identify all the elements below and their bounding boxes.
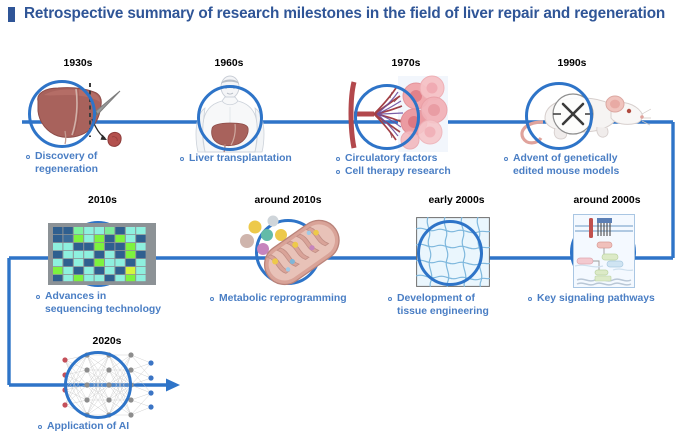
caption-line: Application of AI bbox=[38, 420, 208, 433]
bullet-icon bbox=[26, 155, 30, 159]
caption-1930s: Discovery of regeneration bbox=[26, 150, 156, 177]
caption-2020s: Application of AI bbox=[38, 420, 208, 433]
caption-text: Advances in bbox=[45, 290, 106, 303]
era-label-around-2010s: around 2010s bbox=[223, 195, 353, 206]
caption-text: Discovery of bbox=[35, 150, 97, 163]
caption-line: edited mouse models bbox=[504, 165, 664, 178]
caption-line: tissue engineering bbox=[388, 305, 538, 318]
era-label-2010s: 2010s bbox=[40, 195, 165, 206]
caption-line: Key signaling pathways bbox=[528, 292, 685, 305]
caption-text: sequencing technology bbox=[45, 303, 161, 316]
caption-line: Discovery of bbox=[26, 150, 156, 163]
caption-line: regeneration bbox=[26, 163, 156, 176]
caption-text: Advent of genetically bbox=[513, 152, 618, 165]
caption-text: Development of bbox=[397, 292, 475, 305]
caption-text: regeneration bbox=[35, 163, 98, 176]
caption-2010s: Advances in sequencing technology bbox=[36, 290, 206, 317]
milestone-1990s[interactable]: 1990s bbox=[505, 58, 655, 153]
bullet-icon bbox=[210, 297, 214, 301]
caption-around-2000s: Key signaling pathways bbox=[528, 292, 685, 305]
ring-early-2000s bbox=[417, 220, 483, 286]
era-label-1930s: 1930s bbox=[18, 58, 138, 69]
caption-1960s: Liver transplantation bbox=[180, 152, 330, 165]
caption-line: Metabolic reprogramming bbox=[210, 292, 400, 305]
caption-text: Liver transplantation bbox=[189, 152, 292, 165]
bullet-icon bbox=[36, 295, 40, 299]
bullet-icon bbox=[336, 170, 340, 174]
era-label-around-2000s: around 2000s bbox=[547, 195, 667, 206]
milestone-2020s[interactable]: 2020s bbox=[50, 336, 180, 426]
signaling-pathway-icon bbox=[573, 214, 635, 288]
caption-line: Development of bbox=[388, 292, 538, 305]
ring-1990s bbox=[525, 82, 593, 150]
bullet-icon bbox=[38, 425, 42, 429]
caption-line: Circulatory factors bbox=[336, 152, 496, 165]
era-label-1960s: 1960s bbox=[174, 58, 284, 69]
caption-text: Metabolic reprogramming bbox=[219, 292, 347, 305]
bullet-icon bbox=[336, 157, 340, 161]
ring-2020s bbox=[64, 351, 132, 419]
caption-line: Cell therapy research bbox=[336, 165, 496, 178]
milestone-2010s[interactable]: 2010s bbox=[40, 195, 165, 290]
milestone-early-2000s[interactable]: early 2000s bbox=[395, 195, 510, 290]
bullet-icon bbox=[388, 297, 392, 301]
caption-line: Advances in bbox=[36, 290, 206, 303]
caption-text: Cell therapy research bbox=[345, 165, 451, 178]
bullet-icon bbox=[504, 157, 508, 161]
caption-line: sequencing technology bbox=[36, 303, 206, 316]
microarray-grid-icon bbox=[48, 223, 156, 285]
caption-line: Advent of genetically bbox=[504, 152, 664, 165]
caption-text: tissue engineering bbox=[397, 305, 489, 318]
bullet-icon bbox=[528, 297, 532, 301]
caption-text: edited mouse models bbox=[513, 165, 619, 178]
caption-line: Liver transplantation bbox=[180, 152, 330, 165]
caption-around-2010s: Metabolic reprogramming bbox=[210, 292, 400, 305]
milestone-around-2010s[interactable]: around 2010s bbox=[225, 195, 355, 290]
bullet-icon bbox=[180, 157, 184, 161]
ring-1960s bbox=[197, 85, 263, 151]
caption-text: Application of AI bbox=[47, 420, 129, 433]
caption-1990s: Advent of genetically edited mouse model… bbox=[504, 152, 664, 179]
caption-1970s: Circulatory factors Cell therapy researc… bbox=[336, 152, 496, 179]
era-label-1970s: 1970s bbox=[346, 58, 466, 69]
caption-text: Key signaling pathways bbox=[537, 292, 655, 305]
milestone-around-2000s[interactable]: around 2000s bbox=[545, 195, 665, 290]
milestone-1930s[interactable]: 1930s bbox=[18, 58, 138, 153]
milestone-1970s[interactable]: 1970s bbox=[340, 58, 460, 153]
milestone-1960s[interactable]: 1960s bbox=[180, 58, 290, 153]
ring-1970s bbox=[354, 84, 420, 150]
era-label-early-2000s: early 2000s bbox=[399, 195, 514, 206]
caption-early-2000s: Development of tissue engineering bbox=[388, 292, 538, 319]
era-label-1990s: 1990s bbox=[497, 58, 647, 69]
era-label-2020s: 2020s bbox=[42, 336, 172, 347]
ring-1930s bbox=[28, 80, 96, 148]
caption-text: Circulatory factors bbox=[345, 152, 437, 165]
mitochondrion-icon bbox=[231, 211, 351, 289]
